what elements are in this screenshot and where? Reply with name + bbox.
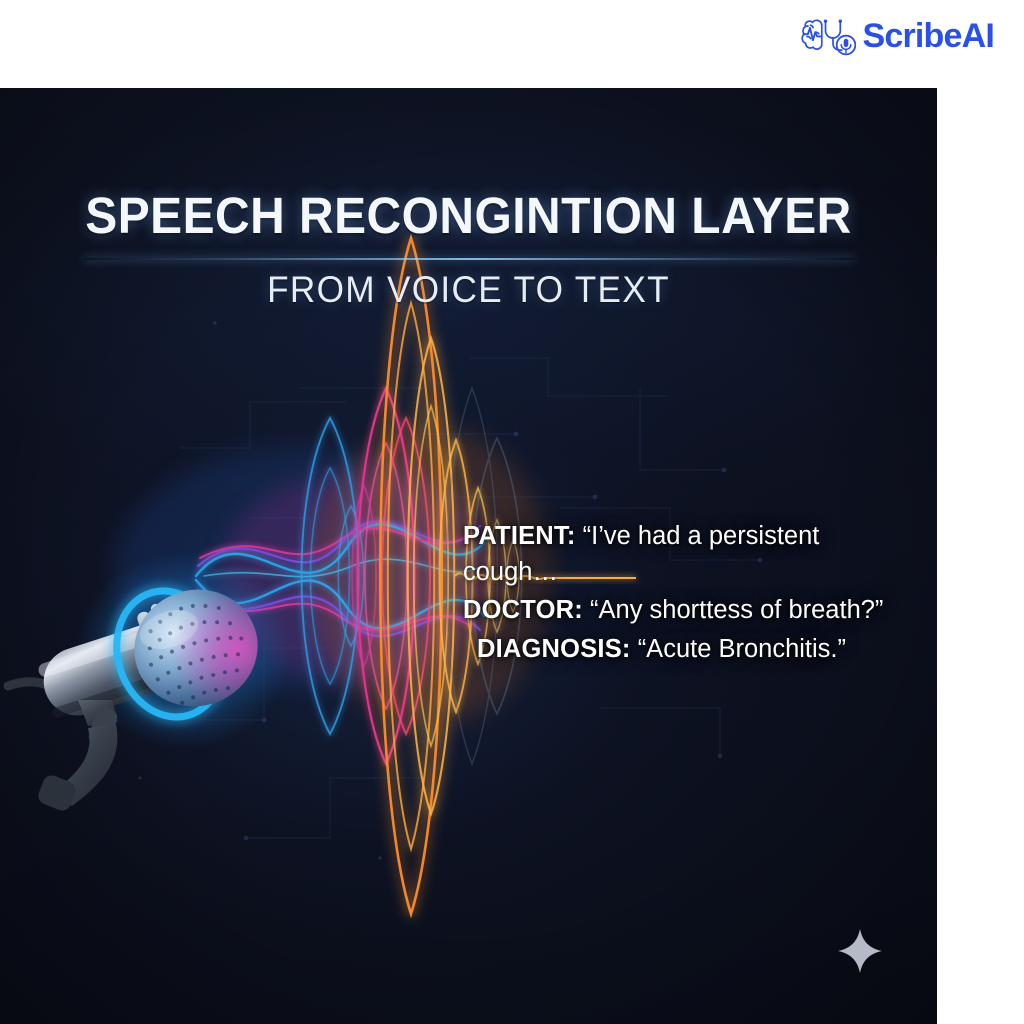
transcript-line-patient: PATIENT: “I’ve had a persistent cough…: [463, 518, 903, 590]
speaker-label-doctor: DOCTOR:: [463, 596, 583, 624]
speaker-label-patient: PATIENT:: [463, 522, 576, 550]
title-block: SPEECH RECONGINTION LAYER FROM VOICE TO …: [0, 190, 937, 308]
microphone-glyph: [837, 36, 856, 55]
utterance-patient: “I’ve had a persistent: [583, 522, 820, 550]
page-title: SPEECH RECONGINTION LAYER: [28, 190, 909, 241]
transcript-line-doctor: DOCTOR: “Any shorttess of breath?”: [463, 592, 903, 628]
speaker-label-diagnosis: DIAGNOSIS:: [477, 635, 631, 663]
title-divider: [84, 258, 854, 260]
brand-logo[interactable]: ScribeAI: [798, 12, 994, 60]
poster-canvas: SPEECH RECONGINTION LAYER FROM VOICE TO …: [0, 88, 937, 1024]
transcript-block: PATIENT: “I’ve had a persistent cough… D…: [463, 518, 903, 667]
page-subtitle: FROM VOICE TO TEXT: [23, 271, 913, 308]
brand-wordmark: ScribeAI: [862, 19, 994, 53]
utterance-patient-overflow: cough…: [463, 554, 903, 590]
brain-stethoscope-microphone-icon: [798, 12, 856, 60]
transcript-line-diagnosis: DIAGNOSIS: “Acute Bronchitis.”: [477, 631, 903, 667]
studio-microphone-icon: [8, 552, 292, 813]
utterance-diagnosis: “Acute Bronchitis.”: [638, 635, 846, 663]
header-band: ScribeAI: [0, 0, 1024, 88]
utterance-doctor: “Any shorttess of breath?”: [590, 596, 883, 624]
sparkle-star-icon: [837, 928, 883, 974]
